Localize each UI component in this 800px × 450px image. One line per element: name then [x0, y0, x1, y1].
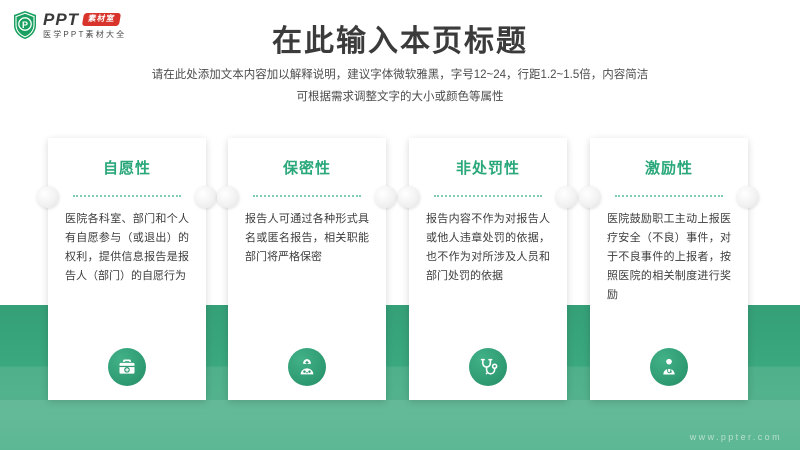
- page-title: 在此输入本页标题: [0, 16, 800, 60]
- card-body-text: 报告人可通过各种形式具名或匿名报告，相关职能部门将严格保密: [245, 210, 369, 267]
- card-notch-right: [195, 186, 217, 208]
- doctor-icon: [650, 348, 688, 386]
- green-base-reflection: [0, 400, 800, 450]
- page-subtitle: 请在此处添加文本内容加以解释说明，建议字体微软雅黑，字号12~24，行距1.2~…: [0, 64, 800, 109]
- info-card-confidential[interactable]: 保密性 报告人可通过各种形式具名或匿名报告，相关职能部门将严格保密: [228, 138, 386, 400]
- card-notch-right: [556, 186, 578, 208]
- info-card-non-punitive[interactable]: 非处罚性 报告内容不作为对报告人或他人违章处罚的依据，也不作为对所涉及人员和部门…: [409, 138, 567, 400]
- card-notch-right: [737, 186, 759, 208]
- nurse-icon: [288, 348, 326, 386]
- card-divider: [434, 195, 542, 197]
- info-card-voluntary[interactable]: 自愿性 医院各科室、部门和个人有自愿参与（或退出）的权利，提供信息报告是报告人（…: [48, 138, 206, 400]
- stethoscope-icon: [469, 348, 507, 386]
- card-notch-left: [217, 186, 239, 208]
- info-card-incentive[interactable]: 激励性 医院鼓励职工主动上报医疗安全（不良）事件，对于不良事件的上报者，按照医院…: [590, 138, 748, 400]
- card-notch-left: [579, 186, 601, 208]
- card-title: 非处罚性: [409, 157, 567, 178]
- card-row: 自愿性 医院各科室、部门和个人有自愿参与（或退出）的权利，提供信息报告是报告人（…: [0, 138, 800, 400]
- medical-kit-icon: [108, 348, 146, 386]
- card-body-text: 报告内容不作为对报告人或他人违章处罚的依据，也不作为对所涉及人员和部门处罚的依据: [426, 210, 550, 286]
- card-body-text: 医院各科室、部门和个人有自愿参与（或退出）的权利，提供信息报告是报告人（部门）的…: [65, 210, 189, 286]
- card-notch-left: [37, 186, 59, 208]
- subtitle-line-2: 可根据需求调整文字的大小或颜色等属性: [0, 86, 800, 108]
- card-notch-right: [375, 186, 397, 208]
- card-title: 激励性: [590, 157, 748, 178]
- watermark-text: www.ppter.com: [690, 432, 782, 442]
- card-title: 自愿性: [48, 157, 206, 178]
- card-title: 保密性: [228, 157, 386, 178]
- slide-canvas: www.ppter.com P PPT 素材室 医学PPT素材大全 在此输入本页…: [0, 0, 800, 450]
- card-divider: [253, 195, 361, 197]
- card-divider: [615, 195, 723, 197]
- card-divider: [73, 195, 181, 197]
- card-body-text: 医院鼓励职工主动上报医疗安全（不良）事件，对于不良事件的上报者，按照医院的相关制…: [607, 210, 731, 305]
- card-notch-left: [398, 186, 420, 208]
- subtitle-line-1: 请在此处添加文本内容加以解释说明，建议字体微软雅黑，字号12~24，行距1.2~…: [0, 64, 800, 86]
